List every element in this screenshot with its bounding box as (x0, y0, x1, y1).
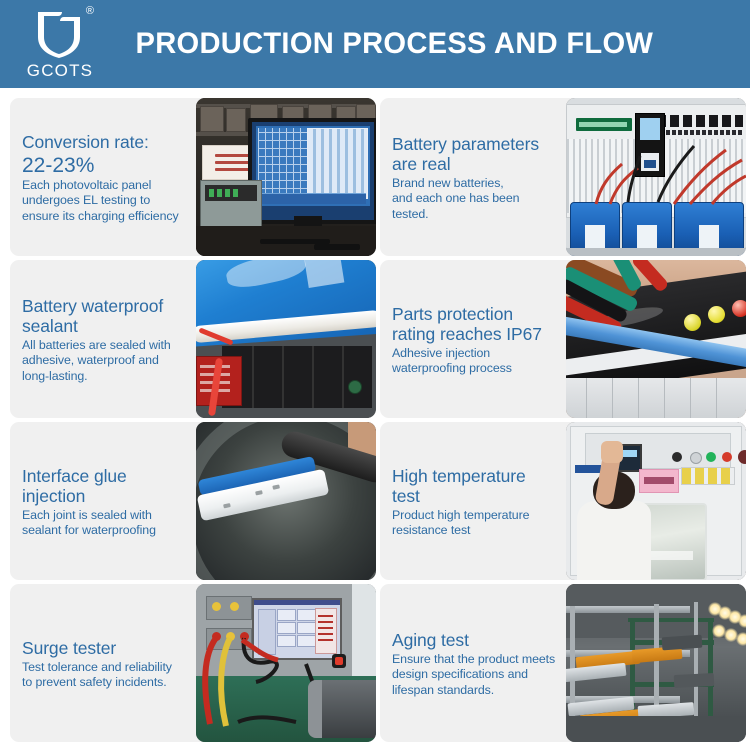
card-description: All batteries are sealed with adhesive, … (22, 338, 190, 385)
page-title: PRODUCTION PROCESS AND FLOW (120, 27, 731, 61)
process-card-conversion-rate: Conversion rate: 22-23% Each photovoltai… (10, 98, 376, 256)
card-title: High temperature test (392, 466, 560, 506)
card-description: Adhesive injection waterproofing process (392, 346, 560, 377)
process-card-ip67-rating: Parts protection rating reaches IP67 Adh… (380, 260, 746, 418)
process-card-waterproof-sealant: Battery waterproof sealant All batteries… (10, 260, 376, 418)
card-description: Each joint is sealed with sealant for wa… (22, 508, 190, 539)
card-description: Brand new batteries, and each one has be… (392, 176, 560, 223)
process-card-battery-parameters: Battery parameters are real Brand new ba… (380, 98, 746, 256)
card-highlight-value: 22-23% (22, 154, 190, 177)
card-text-block: Battery waterproof sealant All batteries… (10, 260, 196, 418)
card-text-block: Parts protection rating reaches IP67 Adh… (380, 260, 566, 418)
page-header: ® GCOTS PRODUCTION PROCESS AND FLOW (0, 0, 750, 88)
card-description: Each photovoltaic panel undergoes EL tes… (22, 178, 190, 225)
surge-tester-instrument-photo (196, 584, 376, 742)
el-testing-lab-photo (196, 98, 376, 256)
high-temperature-chamber-photo (566, 422, 746, 580)
card-description: Test tolerance and reliability to preven… (22, 660, 190, 691)
brand-logo: ® GCOTS (0, 0, 120, 88)
card-text-block: Surge tester Test tolerance and reliabil… (10, 584, 196, 742)
card-description: Ensure that the product meets design spe… (392, 652, 560, 699)
card-title: Aging test (392, 630, 560, 650)
card-text-block: Battery parameters are real Brand new ba… (380, 98, 566, 256)
card-text-block: High temperature test Product high tempe… (380, 422, 566, 580)
process-card-high-temperature-test: High temperature test Product high tempe… (380, 422, 746, 580)
aging-test-racks-photo (566, 584, 746, 742)
card-title: Conversion rate: (22, 132, 190, 152)
process-card-surge-tester: Surge tester Test tolerance and reliabil… (10, 584, 376, 742)
brand-name: GCOTS (27, 61, 93, 81)
card-title: Battery waterproof sealant (22, 296, 190, 336)
production-process-poster: ® GCOTS PRODUCTION PROCESS AND FLOW Conv… (0, 0, 750, 750)
card-description: Product high temperature resistance test (392, 508, 560, 539)
card-text-block: Interface glue injection Each joint is s… (10, 422, 196, 580)
process-card-interface-glue: Interface glue injection Each joint is s… (10, 422, 376, 580)
card-text-block: Conversion rate: 22-23% Each photovoltai… (10, 98, 196, 256)
card-text-block: Aging test Ensure that the product meets… (380, 584, 566, 742)
power-battery-test-system-photo (566, 98, 746, 256)
cables-and-led-indicators-photo (566, 260, 746, 418)
card-title: Parts protection rating reaches IP67 (392, 304, 560, 344)
card-title: Interface glue injection (22, 466, 190, 506)
card-title: Battery parameters are real (392, 134, 560, 174)
process-card-aging-test: Aging test Ensure that the product meets… (380, 584, 746, 742)
battery-sealant-bead-photo (196, 260, 376, 418)
card-title: Surge tester (22, 638, 190, 658)
shield-g-logo-icon: ® (32, 7, 88, 59)
process-card-grid: Conversion rate: 22-23% Each photovoltai… (10, 98, 740, 744)
registered-mark: ® (86, 6, 94, 17)
glue-injection-connector-photo (196, 422, 376, 580)
